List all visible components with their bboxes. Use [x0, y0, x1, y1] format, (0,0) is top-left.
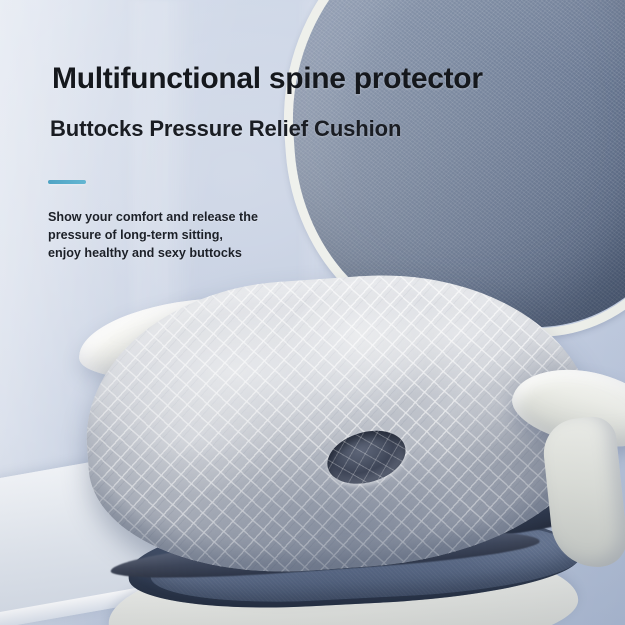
product-banner: Multifunctional spine protector Buttocks…	[0, 0, 625, 625]
page-title: Multifunctional spine protector	[52, 62, 483, 96]
body-description: Show your comfort and release the pressu…	[48, 208, 258, 262]
page-subtitle: Buttocks Pressure Relief Cushion	[50, 116, 401, 142]
accent-rule-divider	[48, 180, 86, 184]
